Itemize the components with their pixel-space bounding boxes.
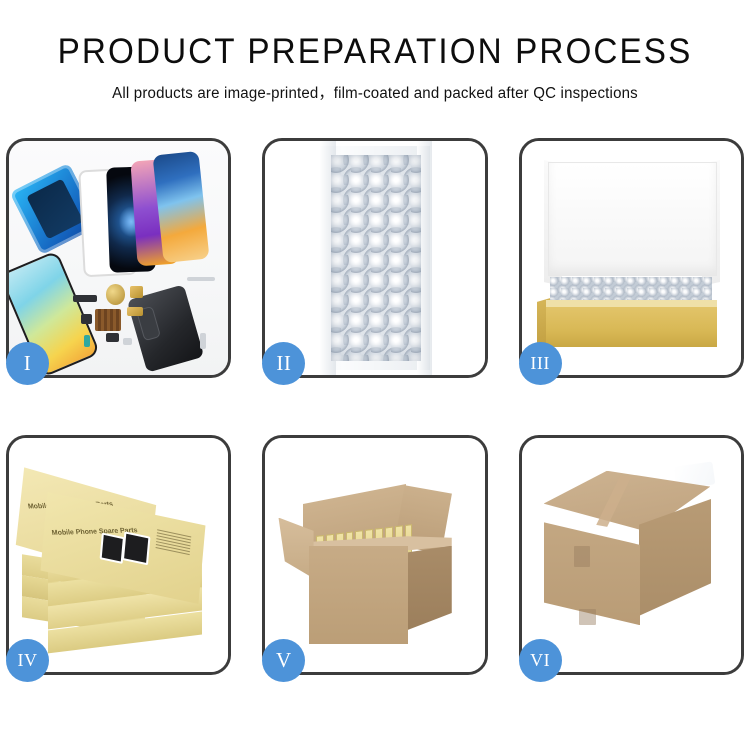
carton-side-graphic: [408, 546, 452, 630]
page-title: PRODUCT PREPARATION PROCESS: [19, 34, 732, 71]
process-steps-grid: I II III: [6, 138, 744, 675]
step-panel-4[interactable]: Mobile Phone Spare Parts Mobile Phone Sp…: [6, 435, 231, 675]
box-spec-lines: [155, 530, 191, 556]
carton-handle-tab-graphic: [574, 546, 589, 567]
step-image-4: Mobile Phone Spare Parts Mobile Phone Sp…: [9, 438, 228, 672]
step-image-3: [522, 141, 741, 375]
step-badge-5: V: [262, 639, 305, 682]
step-badge-2: II: [262, 342, 305, 385]
box-lid-graphic: [548, 162, 717, 276]
small-chip-graphic: [81, 314, 92, 323]
battery-part-graphic: [84, 335, 91, 347]
step-badge-3: III: [519, 342, 562, 385]
box-screen-image: [100, 532, 125, 563]
step-badge-6: VI: [519, 639, 562, 682]
step-badge-4: IV: [6, 639, 49, 682]
step-panel-6[interactable]: VI: [519, 435, 744, 675]
page-header: PRODUCT PREPARATION PROCESS All products…: [0, 0, 750, 103]
step-panel-1[interactable]: I: [6, 138, 231, 378]
camera-part-graphic: [106, 333, 119, 342]
tool-part-graphic: [200, 333, 207, 349]
step-panel-3[interactable]: III: [519, 138, 744, 378]
flex-cable-graphic: [73, 295, 97, 302]
step-badge-1: I: [6, 342, 49, 385]
box-bubble-fill-graphic: [550, 277, 712, 303]
page-subtitle: All products are image-printed，film-coat…: [11, 81, 739, 103]
carton-front-graphic: [309, 546, 408, 644]
phone-blue-orange-graphic: [153, 151, 210, 263]
speaker-part-graphic: [106, 284, 126, 305]
gold-connector-graphic: [130, 286, 143, 298]
step-image-1: [9, 141, 228, 375]
box-tray-front-graphic: [546, 307, 717, 347]
bubble-wrap-graphic: [331, 155, 421, 361]
box-screen-image: [122, 532, 151, 566]
tweezers-graphic: [187, 277, 216, 282]
carton-handle-tab-graphic: [579, 609, 597, 625]
step-panel-5[interactable]: V: [262, 435, 487, 675]
step-image-2: [265, 141, 484, 375]
step-image-6: [522, 438, 741, 672]
step-image-5: [265, 438, 484, 672]
step-panel-2[interactable]: II: [262, 138, 487, 378]
screw-part-graphic: [123, 338, 132, 345]
logic-board-graphic: [95, 309, 121, 330]
gold-flex-graphic: [127, 307, 142, 316]
